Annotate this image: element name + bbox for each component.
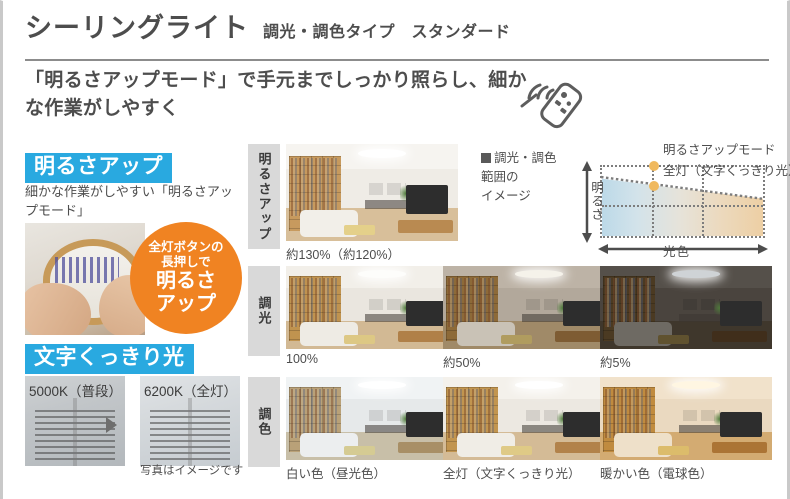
page-root: シーリングライト 調光・調色タイプ スタンダード 「明るさアップモード」で手元ま… [0, 0, 790, 499]
photo-cell-cool [286, 377, 458, 460]
room-photo [286, 377, 458, 460]
chart-gridline-h1 [602, 205, 763, 207]
row-label-dimming: 調光 [248, 266, 280, 356]
callout-line-2: 長押しで [161, 255, 211, 269]
callout-line-1: 全灯ボタンの [148, 240, 223, 254]
header: シーリングライト 調光・調色タイプ スタンダード [25, 15, 765, 42]
caption-warm: 暖かい色（電球色） [600, 463, 713, 482]
caption-5: 約5% [600, 352, 631, 371]
photo-cell-100 [286, 266, 458, 349]
arrow-right-icon [106, 417, 117, 433]
row-label-brightness-up: 明るさアップ [248, 144, 280, 249]
photo-cell-50 [443, 266, 615, 349]
book-caption-6200k: 6200K（全灯） [144, 380, 237, 400]
photo-cell-full [443, 377, 615, 460]
diagram-label-line2: 範囲の [481, 170, 519, 184]
callout-line-4: アップ [156, 293, 216, 316]
diagram-label-line3: イメージ [481, 189, 531, 203]
caption-100: 100% [286, 352, 318, 366]
row-label-text: 明るさアップ [258, 152, 271, 242]
caption-130: 約130%（約120%） [286, 244, 400, 263]
room-photo [443, 266, 615, 349]
photo-disclaimer: 写真はイメージです [140, 462, 243, 478]
embroidery-stitching [55, 257, 119, 283]
page-subtitle: 調光・調色タイプ スタンダード [263, 18, 511, 42]
page-title: シーリングライト [25, 15, 249, 42]
badge-brightness-up: 明るさアップ [25, 153, 172, 183]
lead-text: 「明るさアップモード」で手元までしっかり照らし、細かな作業がしやすく [25, 67, 545, 122]
room-photo [286, 266, 458, 349]
legend-dot-full-light [649, 181, 659, 191]
square-bullet-icon [481, 153, 491, 163]
remote-control-icon [516, 73, 588, 129]
legend-label-full-light: 全灯（文字くっきり光） [663, 160, 790, 179]
room-photo [600, 266, 772, 349]
callout-circle: 全灯ボタンの 長押しで 明るさ アップ [130, 222, 242, 334]
caption-full: 全灯（文字くっきり光） [443, 463, 581, 482]
room-photo [443, 377, 615, 460]
callout-line-3: 明るさ [156, 270, 216, 293]
row-label-text: 調光 [258, 296, 271, 326]
photo-cell-5 [600, 266, 772, 349]
x-axis-label: 光色 [663, 241, 690, 260]
diagram-label: 調光・調色 範囲の イメージ [481, 149, 563, 205]
photo-embroidery [25, 223, 145, 335]
caption-50: 約50% [443, 352, 481, 371]
chart-gridline-v1 [652, 167, 654, 236]
book-spine [73, 398, 77, 466]
badge-clear-text-light: 文字くっきり光 [25, 344, 194, 374]
room-photo [286, 144, 458, 241]
photo-cell-130 [286, 144, 458, 241]
room-photo [600, 377, 772, 460]
book-card-6200k: 6200K（全灯） [140, 376, 240, 466]
header-divider [25, 59, 769, 61]
book-spine [188, 398, 192, 466]
row-label-text: 調色 [258, 407, 271, 437]
photo-cell-warm [600, 377, 772, 460]
diagram-label-line1: 調光・調色 [494, 151, 557, 165]
legend-label-brightness-up: 明るさアップモード [663, 139, 776, 158]
book-caption-5000k: 5000K（普段） [29, 380, 122, 400]
left-description: 細かな作業がしやすい「明るさアップモード」 [25, 183, 235, 221]
caption-cool: 白い色（昼光色） [286, 463, 386, 482]
book-comparison: 5000K（普段） 6200K（全灯） [25, 376, 240, 466]
y-axis-label: 明るさ [587, 181, 606, 222]
legend-dot-brightness-up [649, 161, 659, 171]
row-label-color-tuning: 調色 [248, 377, 280, 467]
